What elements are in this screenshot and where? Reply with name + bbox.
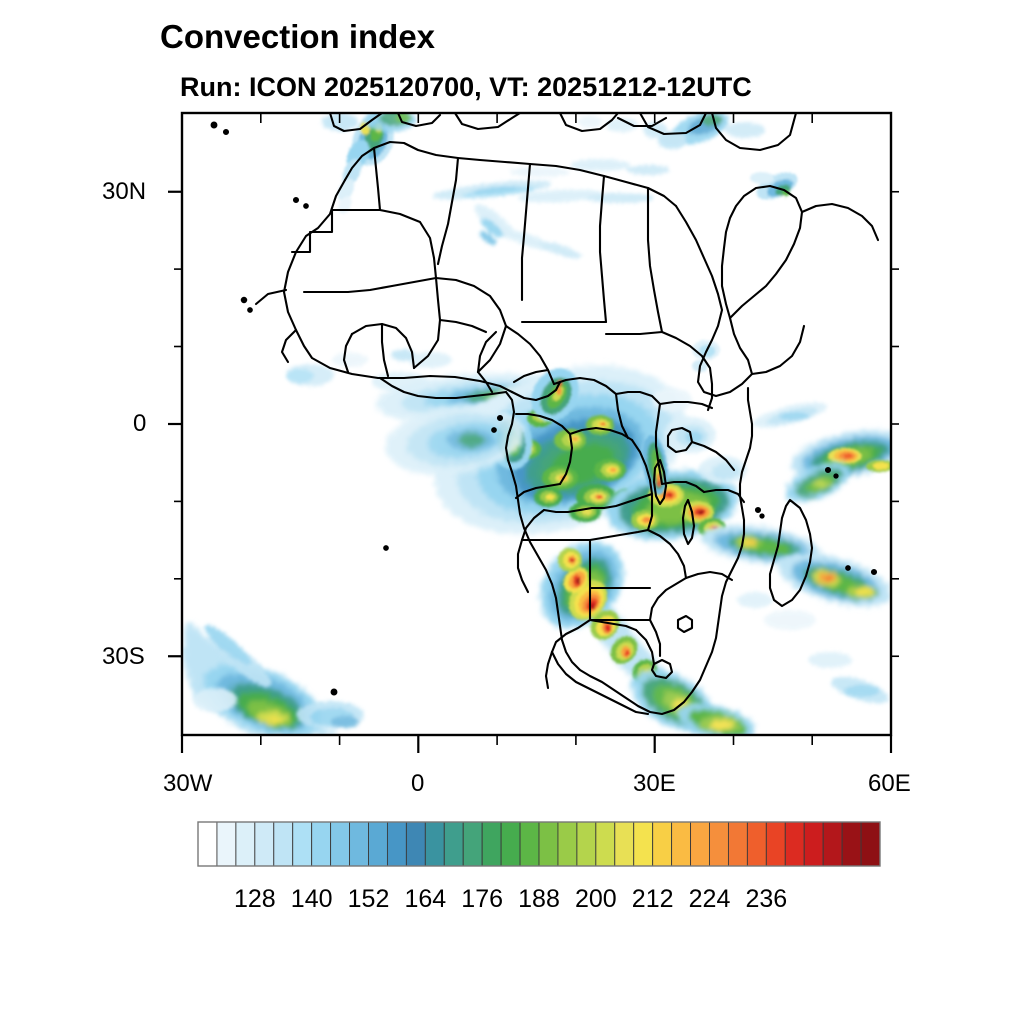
colorbar-cell[interactable]	[842, 822, 861, 866]
colorbar-cell[interactable]	[710, 822, 729, 866]
colorbar-cell[interactable]	[255, 822, 274, 866]
colorbar-cell[interactable]	[312, 822, 331, 866]
colorbar-tick-label: 200	[566, 885, 626, 914]
colorbar-cell[interactable]	[236, 822, 255, 866]
colorbar-cell[interactable]	[747, 822, 766, 866]
colorbar-cell[interactable]	[331, 822, 350, 866]
colorbar-tick-label: 176	[452, 885, 512, 914]
x-tick-label-0: 0	[411, 770, 424, 798]
x-axis-major-ticks	[182, 735, 891, 753]
colorbar-cell[interactable]	[217, 822, 236, 866]
colorbar[interactable]	[198, 822, 880, 866]
weather-map-figure: Convection index Run: ICON 2025120700, V…	[0, 0, 1024, 1024]
colorbar-cell[interactable]	[577, 822, 596, 866]
colorbar-tick-label: 236	[736, 885, 796, 914]
colorbar-cell[interactable]	[274, 822, 293, 866]
colorbar-cell[interactable]	[520, 822, 539, 866]
colorbar-cell[interactable]	[482, 822, 501, 866]
colorbar-cell[interactable]	[596, 822, 615, 866]
colorbar-tick-label: 128	[225, 885, 285, 914]
colorbar-cell[interactable]	[444, 822, 463, 866]
y-tick-label-30s: 30S	[102, 643, 145, 671]
colorbar-cell[interactable]	[539, 822, 558, 866]
colorbar-cell[interactable]	[198, 822, 217, 866]
y-tick-label-0: 0	[133, 410, 146, 438]
x-tick-label-60e: 60E	[868, 770, 911, 798]
x-tick-label-30w: 30W	[163, 770, 212, 798]
colorbar-cell[interactable]	[293, 822, 312, 866]
colorbar-cell[interactable]	[672, 822, 691, 866]
colorbar-cell[interactable]	[653, 822, 672, 866]
colorbar-cell[interactable]	[501, 822, 520, 866]
y-axis-major-ticks	[168, 192, 182, 657]
map-plot-area	[0, 0, 1024, 1024]
colorbar-cell[interactable]	[425, 822, 444, 866]
colorbar-cell[interactable]	[369, 822, 388, 866]
colorbar-tick-label: 188	[509, 885, 569, 914]
colorbar-tick-label: 164	[395, 885, 455, 914]
colorbar-cell[interactable]	[634, 822, 653, 866]
colorbar-cell[interactable]	[558, 822, 577, 866]
colorbar-tick-label: 224	[680, 885, 740, 914]
colorbar-tick-label: 212	[623, 885, 683, 914]
colorbar-cell[interactable]	[861, 822, 880, 866]
colorbar-cell[interactable]	[804, 822, 823, 866]
x-axis-minor-ticks	[261, 735, 812, 745]
colorbar-cell[interactable]	[406, 822, 425, 866]
colorbar-cell[interactable]	[823, 822, 842, 866]
colorbar-cell[interactable]	[766, 822, 785, 866]
colorbar-cell[interactable]	[728, 822, 747, 866]
colorbar-cell[interactable]	[387, 822, 406, 866]
colorbar-cell[interactable]	[785, 822, 804, 866]
y-tick-label-30n: 30N	[102, 178, 146, 206]
colorbar-tick-label: 140	[282, 885, 342, 914]
colorbar-cell[interactable]	[350, 822, 369, 866]
colorbar-cell[interactable]	[463, 822, 482, 866]
x-tick-label-30e: 30E	[633, 770, 676, 798]
colorbar-tick-label: 152	[339, 885, 399, 914]
colorbar-cell[interactable]	[615, 822, 634, 866]
colorbar-cell[interactable]	[691, 822, 710, 866]
